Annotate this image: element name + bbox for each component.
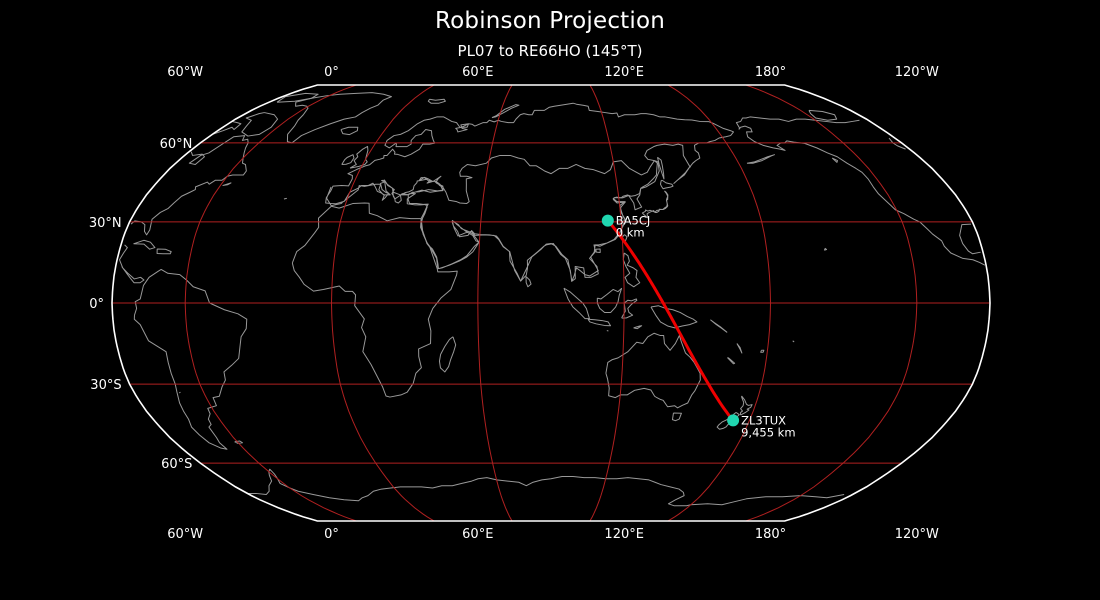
lat-tick-4: 60°S [161, 457, 192, 472]
lon-tick-top-5: 60°W [167, 65, 203, 80]
coastline-svalbard2 [793, 341, 794, 342]
lon-tick-top-4: 120°W [895, 65, 939, 80]
coastline-marajo [284, 198, 287, 199]
lon-tick-top-2: 120°E [604, 65, 644, 80]
lat-tick-2: 0° [89, 297, 104, 312]
robinson-map: BA5CJ0 kmZL3TUX9,455 km 0°60°E120°E180°1… [0, 0, 1100, 600]
station-dot[interactable] [727, 414, 739, 426]
marker-distance-label: 9,455 km [741, 425, 795, 439]
lat-tick-0: 60°N [160, 137, 193, 152]
lon-tick-bottom-5: 60°W [167, 527, 203, 542]
lon-tick-bottom-2: 120°E [604, 527, 644, 542]
lon-tick-bottom-0: 0° [324, 527, 339, 542]
longitude-labels-bottom: 0°60°E120°E180°120°W60°W [167, 527, 939, 542]
station-dot[interactable] [602, 215, 614, 227]
longitude-labels-top: 0°60°E120°E180°120°W60°W [167, 65, 939, 80]
lon-tick-bottom-1: 60°E [462, 527, 493, 542]
map-figure: Robinson Projection PL07 to RE66HO (145°… [0, 0, 1100, 600]
lon-tick-top-1: 60°E [462, 65, 493, 80]
lon-tick-top-0: 0° [324, 65, 339, 80]
lon-tick-bottom-3: 180° [755, 527, 786, 542]
lon-tick-bottom-4: 120°W [895, 527, 939, 542]
lat-tick-1: 30°N [89, 216, 122, 231]
coastline-kamchatka2 [180, 392, 181, 393]
marker-distance-label: 0 km [616, 226, 645, 240]
lat-tick-3: 30°S [90, 378, 121, 393]
lon-tick-top-3: 180° [755, 65, 786, 80]
